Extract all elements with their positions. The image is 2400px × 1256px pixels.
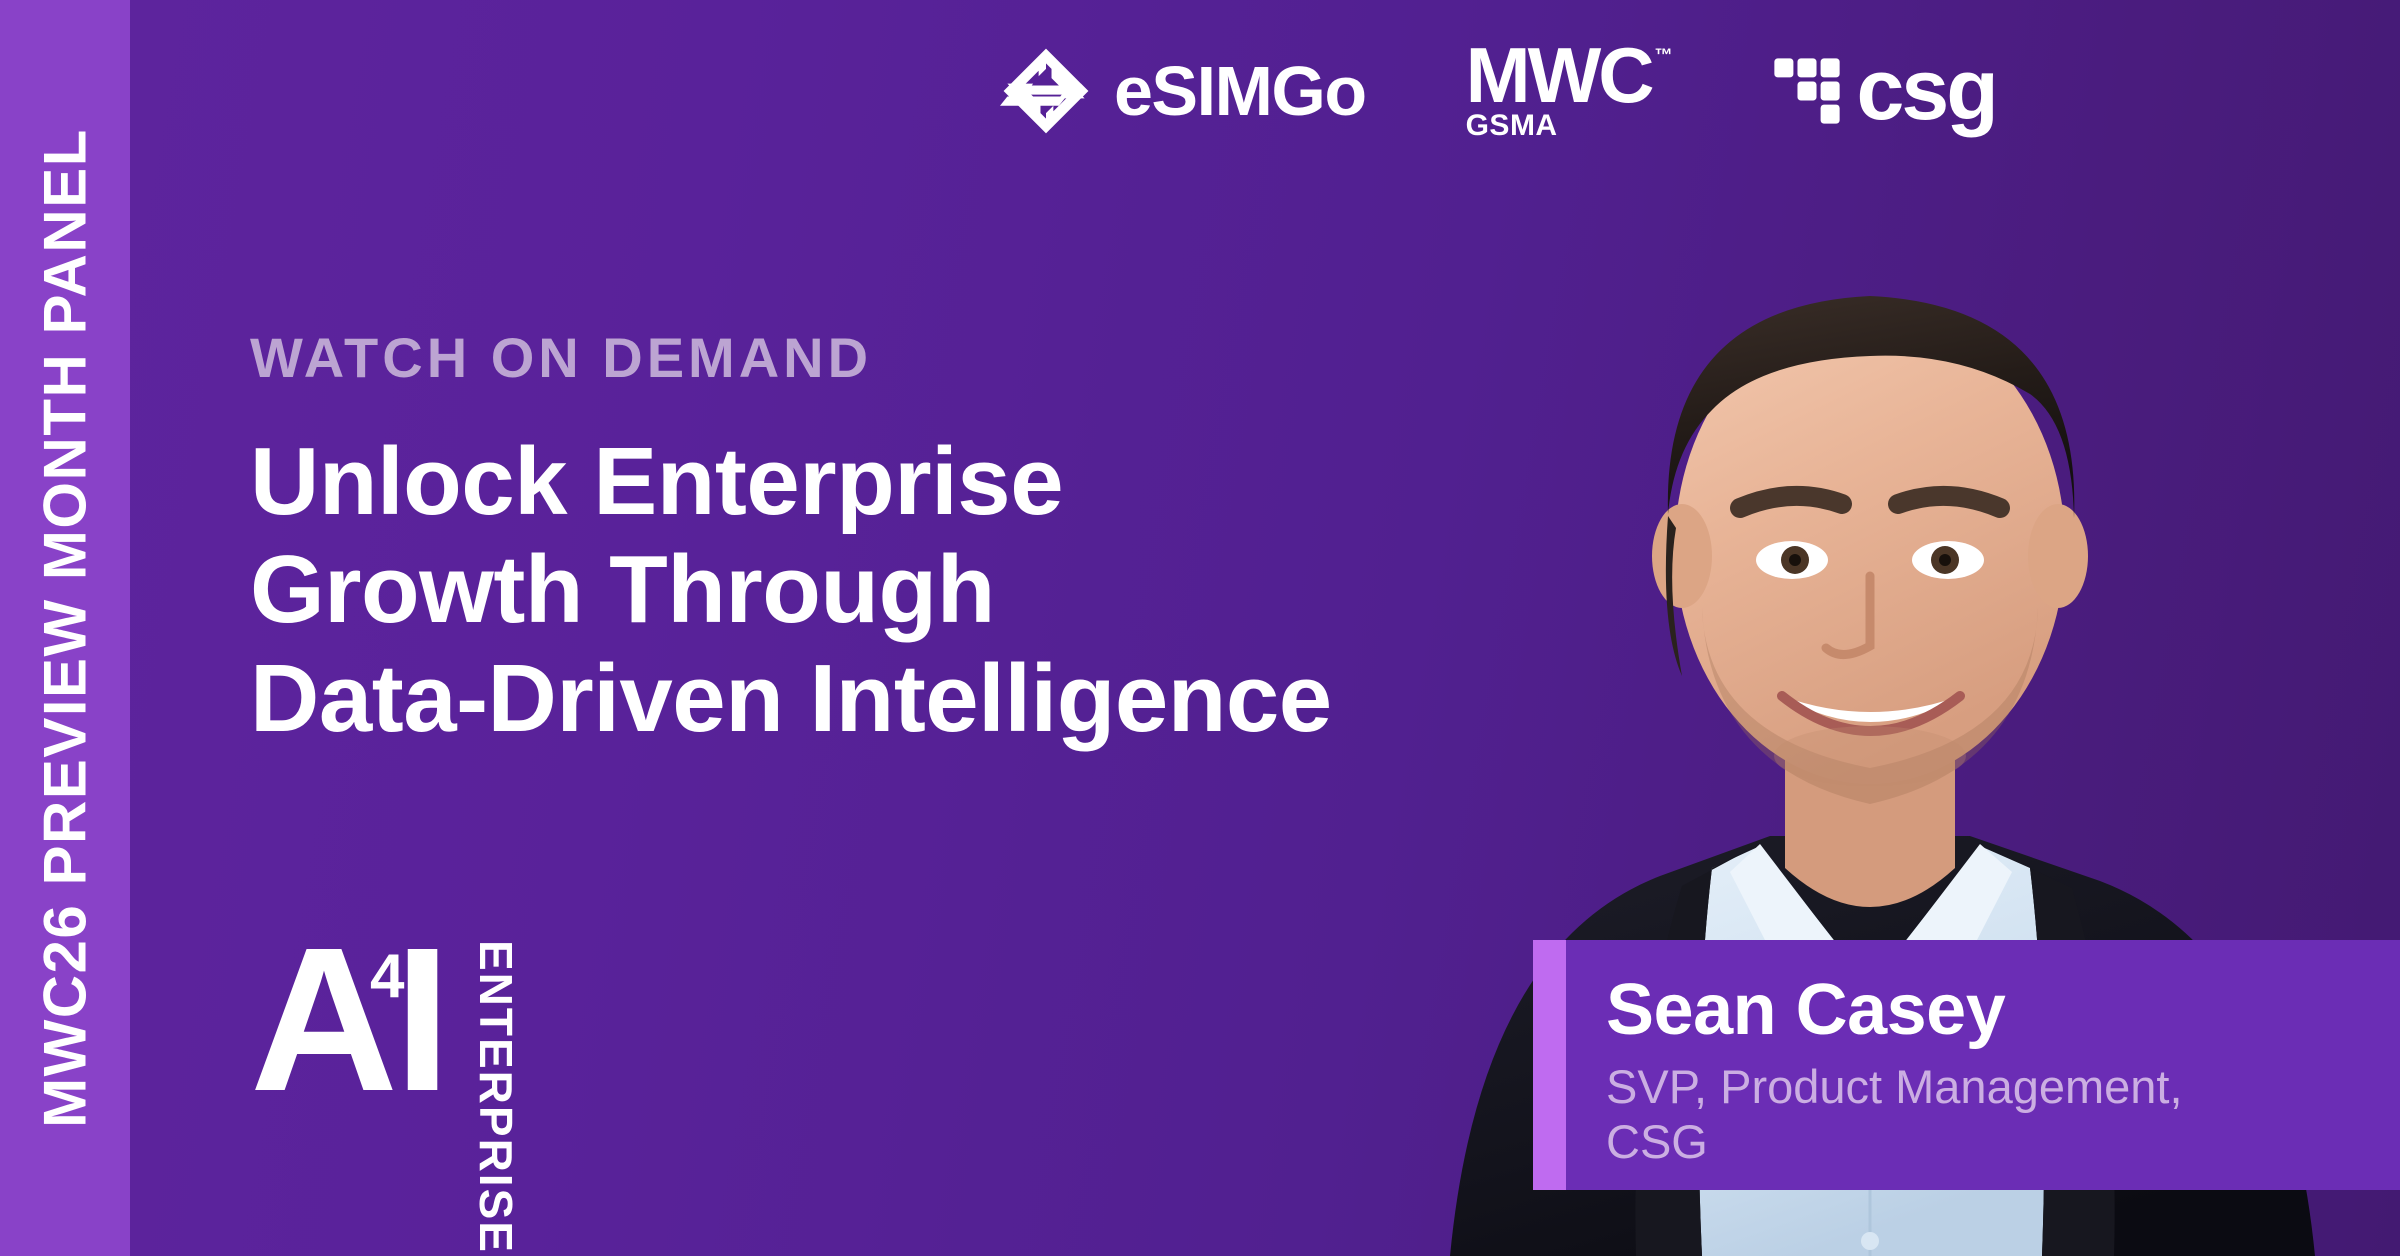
event-ribbon: MWC26 PREVIEW MONTH PANEL (0, 0, 130, 1256)
event-ribbon-label: MWC26 PREVIEW MONTH PANEL (31, 128, 100, 1128)
logo-esimgo: eSIMGo (1000, 45, 1366, 137)
ai4-enterprise-vertical-label: ENTERPRISE (473, 940, 519, 1128)
speaker-name-plate: Sean Casey SVP, Product Management, CSG (1533, 940, 2400, 1190)
speaker-role-line-2: CSG (1606, 1115, 2183, 1170)
speaker-name: Sean Casey (1606, 974, 2183, 1046)
ai4-main-letters: AI4 (250, 940, 447, 1100)
esimgo-diamond-arrows-mark (1000, 45, 1092, 137)
csg-wordmark: csg (1857, 52, 1996, 129)
gsma-subtitle: GSMA (1466, 111, 1558, 141)
logo-mwc-gsma: MWC ™ GSMA (1466, 41, 1673, 142)
logo-ai4-enterprise: AI4 ENTERPRISE (250, 940, 519, 1140)
plate-accent-bar (1533, 940, 1566, 1190)
plate-body: Sean Casey SVP, Product Management, CSG (1566, 940, 2183, 1190)
logo-csg: csg (1773, 52, 1996, 129)
mwc-top-row: MWC ™ (1466, 41, 1673, 110)
esimgo-wordmark: eSIMGo (1114, 56, 1366, 126)
promo-banner: MWC26 PREVIEW MONTH PANEL eSIMGo MWC (0, 0, 2400, 1256)
partner-logo-strip: eSIMGo MWC ™ GSMA csg (1000, 36, 1996, 146)
mwc-wordmark: MWC (1466, 41, 1652, 110)
speaker-role: SVP, Product Management, CSG (1606, 1060, 2183, 1169)
ai4-superscript: 4 (370, 946, 400, 1008)
trademark-icon: ™ (1655, 45, 1673, 66)
speaker-role-line-1: SVP, Product Management, (1606, 1060, 2183, 1115)
csg-staircase-squares-mark (1773, 57, 1841, 125)
